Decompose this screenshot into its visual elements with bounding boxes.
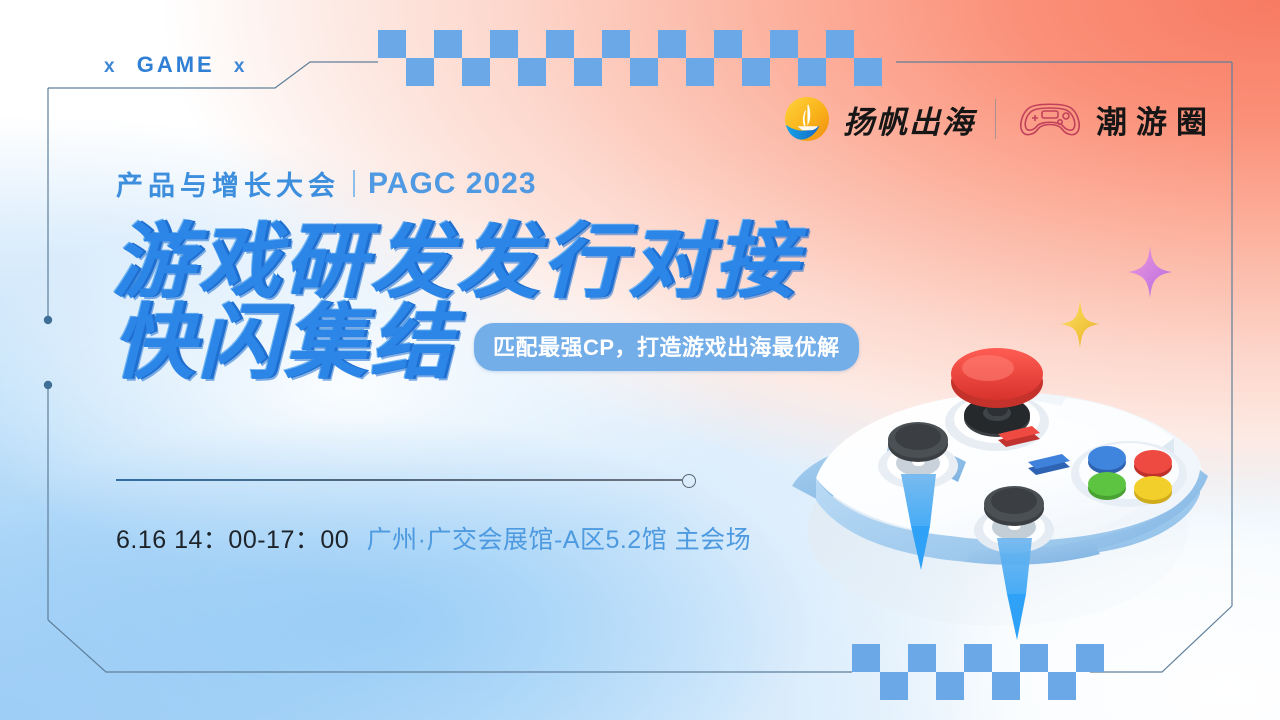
checker-cell <box>964 644 992 672</box>
checker-cell <box>546 58 574 86</box>
checker-cell <box>434 58 462 86</box>
checker-cell <box>462 58 490 86</box>
checker-cell <box>434 30 462 58</box>
logo-yangfanchuhai[interactable]: 扬帆出海 <box>784 96 975 142</box>
checker-cell <box>406 30 434 58</box>
headline-block: 游戏研发发行对接 快闪集结 匹配最强CP，打造游戏出海最优解 <box>112 222 859 384</box>
subtitle-cn: 产品与增长大会 <box>116 164 340 203</box>
logo-yangfanchuhai-text: 扬帆出海 <box>843 97 975 142</box>
checker-cell <box>686 30 714 58</box>
event-subtitle: 产品与增长大会 PAGC 2023 <box>116 164 537 203</box>
checker-cell <box>714 58 742 86</box>
event-info-line: 6.16 14：00-17：00 广州·广交会展馆-A区5.2馆 主会场 <box>116 520 751 556</box>
event-datetime: 6.16 14：00-17：00 <box>116 526 349 554</box>
checker-cell <box>992 644 1020 672</box>
checker-cell <box>602 30 630 58</box>
checker-cell <box>1020 672 1048 700</box>
checker-cell <box>630 30 658 58</box>
divider-rule <box>116 474 696 486</box>
checker-cell <box>854 58 882 86</box>
checker-cell <box>490 58 518 86</box>
game-badge: x GAME x <box>104 52 247 78</box>
checker-cell <box>658 30 686 58</box>
game-controller-illustration <box>770 318 1250 648</box>
checker-strip-top <box>378 30 882 86</box>
checker-row <box>378 30 882 58</box>
headline-line-2: 快闪集结 <box>112 303 456 384</box>
checker-cell <box>1076 672 1104 700</box>
checker-cell <box>936 644 964 672</box>
game-badge-left-x: x <box>104 56 118 77</box>
event-venue: 广州·广交会展馆-A区5.2馆 主会场 <box>367 526 752 554</box>
checker-cell <box>714 30 742 58</box>
checker-cell <box>658 58 686 86</box>
sail-sun-icon <box>784 96 830 142</box>
checker-cell <box>798 58 826 86</box>
checker-cell <box>742 30 770 58</box>
checker-row <box>852 672 1104 700</box>
checker-cell <box>574 30 602 58</box>
checker-cell <box>852 672 880 700</box>
checker-cell <box>462 30 490 58</box>
poster-canvas: x GAME x <box>0 0 1280 720</box>
checker-row <box>378 58 882 86</box>
checker-cell <box>826 58 854 86</box>
checker-cell <box>880 672 908 700</box>
checker-cell <box>798 30 826 58</box>
subtitle-en: PAGC 2023 <box>368 167 537 201</box>
checker-cell <box>518 30 546 58</box>
checker-cell <box>518 58 546 86</box>
logo-chaoyouquan[interactable]: 潮游圈 <box>1016 97 1216 142</box>
gamepad-outline-icon <box>1016 98 1084 140</box>
checker-cell <box>490 30 518 58</box>
checker-strip-bottom <box>852 644 1104 700</box>
checker-cell <box>378 58 406 86</box>
headline-line-1: 游戏研发发行对接 <box>112 222 859 303</box>
checker-cell <box>1076 644 1104 672</box>
checker-cell <box>908 644 936 672</box>
logo-chaoyouquan-text: 潮游圈 <box>1096 97 1216 142</box>
sparkle-pink-icon <box>1128 246 1172 303</box>
checker-cell <box>964 672 992 700</box>
checker-cell <box>602 58 630 86</box>
checker-cell <box>742 58 770 86</box>
checker-cell <box>992 672 1020 700</box>
headline-line-2-row: 快闪集结 匹配最强CP，打造游戏出海最优解 <box>112 303 859 384</box>
checker-cell <box>854 30 882 58</box>
checker-cell <box>770 30 798 58</box>
checker-cell <box>826 30 854 58</box>
background-blue-glow <box>0 418 819 720</box>
checker-cell <box>686 58 714 86</box>
checker-cell <box>1048 672 1076 700</box>
checker-cell <box>880 644 908 672</box>
checker-cell <box>770 58 798 86</box>
checker-cell <box>378 30 406 58</box>
divider-endpoint-circle <box>682 474 696 488</box>
checker-cell <box>852 644 880 672</box>
checker-cell <box>406 58 434 86</box>
checker-cell <box>574 58 602 86</box>
checker-cell <box>908 672 936 700</box>
checker-cell <box>1048 644 1076 672</box>
game-badge-right-x: x <box>234 56 248 77</box>
checker-row <box>852 644 1104 672</box>
game-badge-text: GAME <box>137 52 215 77</box>
subtitle-divider <box>353 170 355 197</box>
divider-line <box>116 479 682 481</box>
checker-cell <box>546 30 574 58</box>
checker-cell <box>936 672 964 700</box>
logo-divider <box>995 99 996 139</box>
logo-bar: 扬帆出海 潮游圈 <box>784 96 1216 142</box>
checker-cell <box>630 58 658 86</box>
checker-cell <box>1020 644 1048 672</box>
